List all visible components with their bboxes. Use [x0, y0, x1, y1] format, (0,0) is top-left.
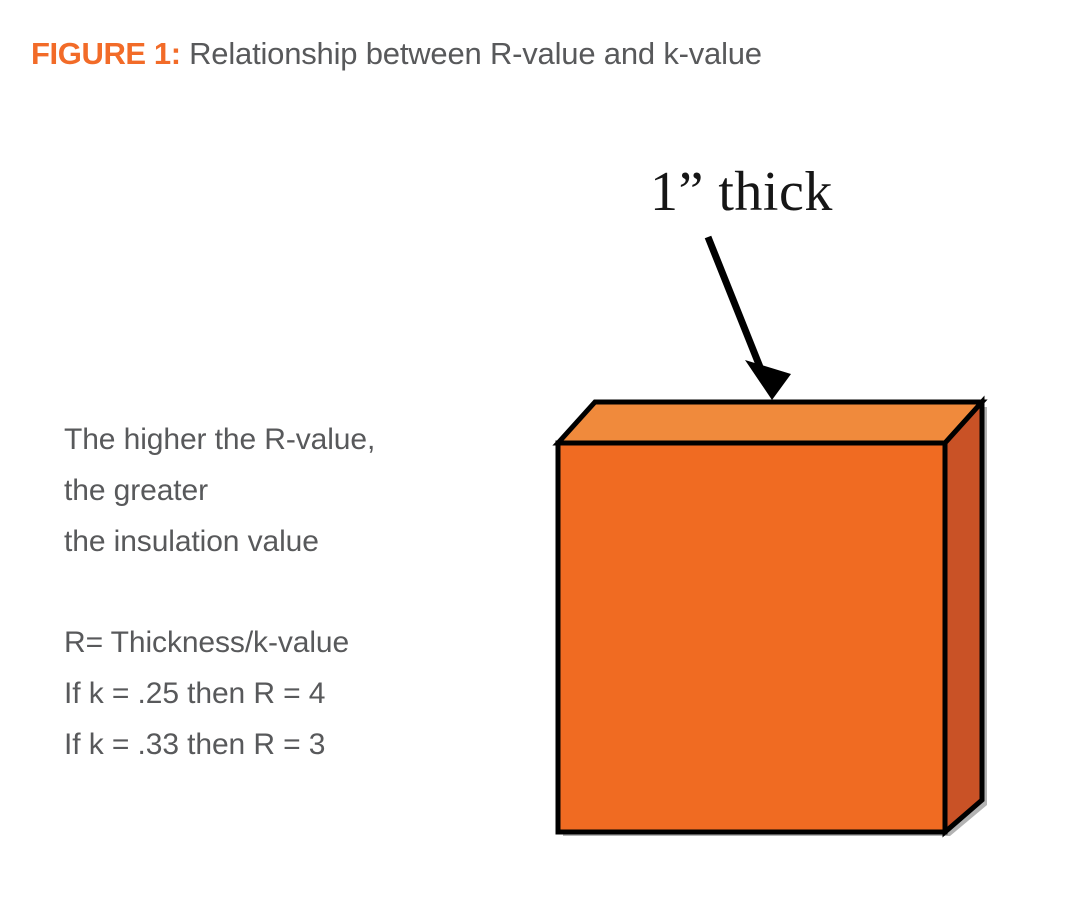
cube-front-face: [558, 443, 945, 832]
cube-top-face: [558, 402, 982, 443]
down-right-arrow-icon: [708, 237, 791, 400]
cube-side-face: [945, 402, 982, 832]
diagram-canvas: [0, 0, 1065, 922]
figure-page: FIGURE 1: Relationship between R-value a…: [0, 0, 1065, 922]
